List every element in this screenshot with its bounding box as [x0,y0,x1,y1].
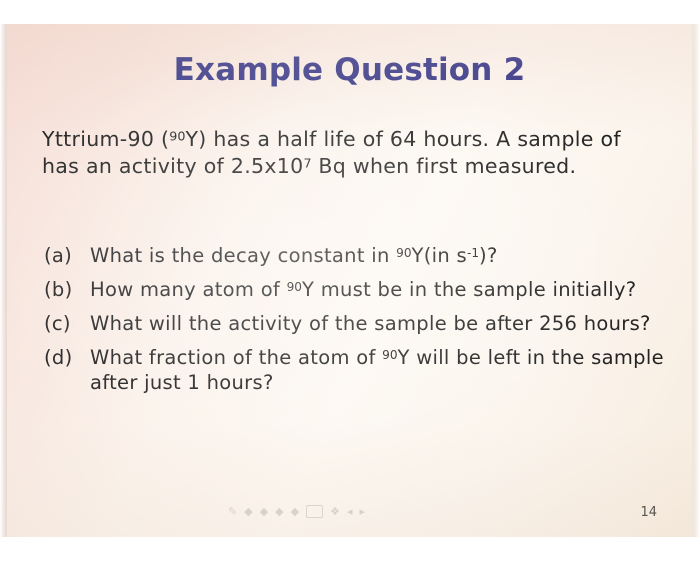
question-text-b: How many atom of 90Y must be in the samp… [90,278,664,303]
presentation-toolbar[interactable]: ✎ ◆ ◆ ◆ ◆ ❖ ◂ ▸ [228,503,418,519]
photo-left-border [0,0,7,567]
intro-paragraph: Yttrium-90 (90Y) has a half life of 64 h… [42,126,654,179]
page-title: Example Question 2 [6,52,693,88]
intro-text-pre: Yttrium-90 ( [42,127,169,151]
photo-right-border [692,0,700,567]
exponent-superscript: -1 [467,246,479,260]
dot-icon-4[interactable]: ◆ [291,506,299,517]
isotope-superscript: 90 [382,348,397,362]
dot-icon-3[interactable]: ◆ [275,506,283,517]
question-label-c: (c) [44,312,90,337]
pen-icon[interactable]: ✎ [228,506,237,517]
next-slide-icon[interactable]: ▸ [360,506,366,517]
question-a-mid: Y(in s [412,244,467,267]
question-label-d: (d) [44,346,90,396]
dot-icon-1[interactable]: ◆ [244,506,252,517]
question-text-d: What fraction of the atom of 90Y will be… [90,346,664,396]
question-list: (a) What is the decay constant in 90Y(in… [44,244,664,405]
question-b-mid: Y must be in the sample initially? [302,278,636,301]
question-text-a: What is the decay constant in 90Y(in s-1… [90,244,664,269]
photo-bottom-border [0,537,700,567]
question-text-c: What will the activity of the sample be … [90,312,664,337]
isotope-superscript: 90 [396,246,411,260]
photo-frame: Example Question 2 Yttrium-90 (90Y) has … [0,0,700,567]
page-number: 14 [640,505,657,520]
question-d-pre: What fraction of the atom of [90,346,382,369]
list-item: (d) What fraction of the atom of 90Y wil… [44,346,664,396]
question-a-pre: What is the decay constant in [90,244,396,267]
question-b-pre: How many atom of [90,278,287,301]
presentation-slide: Example Question 2 Yttrium-90 (90Y) has … [6,22,693,537]
exponent-superscript: 7 [304,155,312,170]
dot-icon-2[interactable]: ◆ [260,506,268,517]
list-item: (c) What will the activity of the sample… [44,312,664,337]
slide-thumbnail-icon[interactable] [306,505,323,518]
isotope-superscript: 90 [287,280,302,294]
isotope-superscript: 90 [169,129,185,144]
photo-top-border [0,0,700,24]
question-a-post: )? [479,244,498,267]
list-item: (a) What is the decay constant in 90Y(in… [44,244,664,269]
pointer-icon[interactable]: ❖ [330,506,340,517]
question-label-a: (a) [44,244,90,269]
list-item: (b) How many atom of 90Y must be in the … [44,278,664,303]
intro-text-post: Bq when first measured. [312,154,577,178]
previous-slide-icon[interactable]: ◂ [347,506,353,517]
question-label-b: (b) [44,278,90,303]
